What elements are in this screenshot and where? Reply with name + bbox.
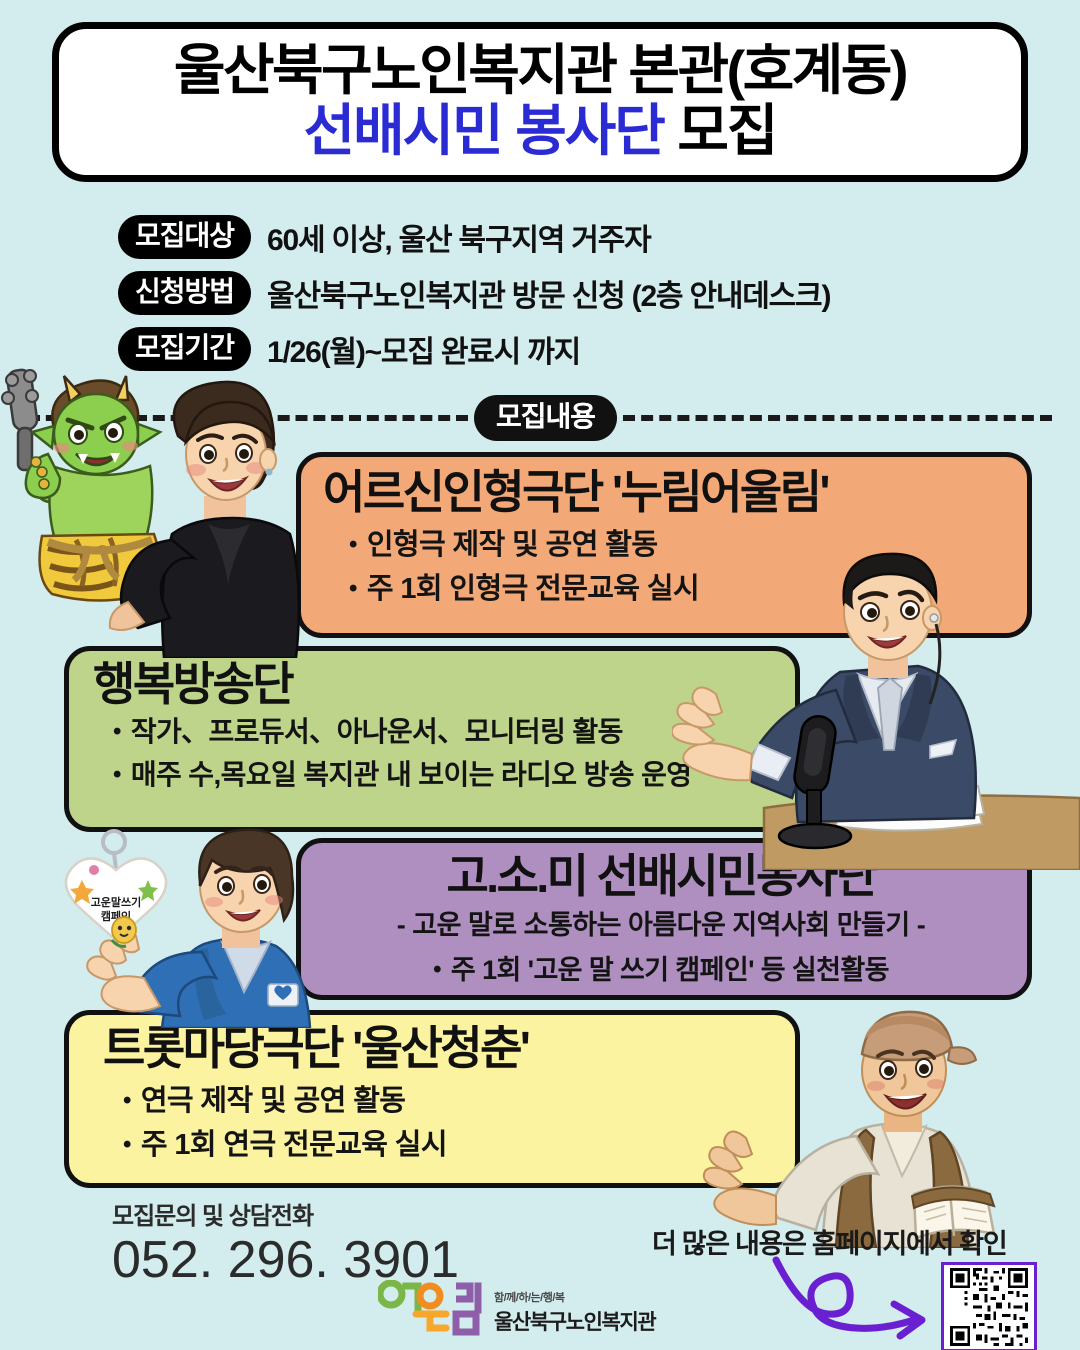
info-rows: 모집대상 60세 이상, 울산 북구지역 거주자 신청방법 울산북구노인복지관 … xyxy=(118,215,1018,383)
program-bullets-trot: 연극 제작 및 공연 활동 주 1회 연극 전문교육 실시 xyxy=(103,1079,769,1167)
qr-code-pattern xyxy=(944,1265,1034,1349)
program-title-gosomi: 고.소.미 선배시민봉사단 xyxy=(321,849,1001,903)
program-card-trot: 트롯마당극단 '울산청춘' 연극 제작 및 공연 활동 주 1회 연극 전문교육… xyxy=(64,1010,800,1188)
eoullim-logo-mark xyxy=(378,1280,486,1338)
contact-block: 모집문의 및 상담전화 052. 296. 3901 xyxy=(112,1196,459,1288)
info-badge-target: 모집대상 xyxy=(118,215,251,259)
program-bullets-puppet: 인형극 제작 및 공연 활동 주 1회 인형극 전문교육 실시 xyxy=(323,523,1001,611)
program-subtitle-gosomi: - 고운 말로 소통하는 아름다운 지역사회 만들기 - xyxy=(321,905,1001,946)
program-card-gosomi: 고.소.미 선배시민봉사단 - 고운 말로 소통하는 아름다운 지역사회 만들기… xyxy=(296,838,1032,1000)
program-bullet: 주 1회 '고운 말 쓰기 캠페인' 등 실천활동 xyxy=(321,950,1001,991)
page-title-rest: 모집 xyxy=(664,99,777,162)
program-bullet: 작가、프로듀서、아나운서、모니터링 활동 xyxy=(113,711,769,754)
organization-logo: 함/께/하/는/행/복 울산북구노인복지관 xyxy=(378,1280,655,1338)
divider-dash-right xyxy=(623,415,1052,421)
info-text-period: 1/26(월)~모집 완료시 까지 xyxy=(267,327,580,371)
poster-title-box: 울산북구노인복지관 본관(호계동) 선배시민 봉사단 모집 xyxy=(52,22,1028,182)
svg-text:캠페인: 캠페인 xyxy=(101,909,131,923)
program-bullets-radio: 작가、프로듀서、아나운서、모니터링 활동 매주 수,목요일 복지관 내 보이는 … xyxy=(93,711,769,796)
qr-code[interactable] xyxy=(941,1262,1037,1350)
logo-tagline: 함/께/하/는/행/복 xyxy=(494,1289,655,1305)
program-bullet: 연극 제작 및 공연 활동 xyxy=(123,1079,769,1123)
page-title-highlight: 선배시민 봉사단 xyxy=(304,99,664,162)
info-row-period: 모집기간 1/26(월)~모집 완료시 까지 xyxy=(118,327,1018,371)
info-text-target: 60세 이상, 울산 북구지역 거주자 xyxy=(267,215,650,259)
program-title-radio: 행복방송단 xyxy=(93,657,769,711)
poster-root: 울산북구노인복지관 본관(호계동) 선배시민 봉사단 모집 모집대상 60세 이… xyxy=(0,0,1080,1350)
info-badge-period: 모집기간 xyxy=(118,327,251,371)
section-divider: 모집내용 xyxy=(28,395,1052,441)
info-badge-method: 신청방법 xyxy=(118,271,251,315)
info-row-target: 모집대상 60세 이상, 울산 북구지역 거주자 xyxy=(118,215,1018,259)
program-title-puppet: 어르신인형극단 '누림어울림' xyxy=(323,465,1001,519)
contact-label: 모집문의 및 상담전화 xyxy=(112,1196,459,1231)
program-bullets-gosomi: 주 1회 '고운 말 쓰기 캠페인' 등 실천활동 xyxy=(321,950,1001,991)
svg-text:고운말쓰기: 고운말쓰기 xyxy=(91,895,142,909)
page-title-line1: 울산북구노인복지관 본관(호계동) xyxy=(174,42,906,100)
program-bullet: 주 1회 연극 전문교육 실시 xyxy=(123,1123,769,1167)
program-card-radio: 행복방송단 작가、프로듀서、아나운서、모니터링 활동 매주 수,목요일 복지관 … xyxy=(64,646,800,832)
program-bullet: 매주 수,목요일 복지관 내 보이는 라디오 방송 운영 xyxy=(113,754,769,797)
program-title-trot: 트롯마당극단 '울산청춘' xyxy=(103,1021,769,1075)
info-row-method: 신청방법 울산북구노인복지관 방문 신청 (2층 안내데스크) xyxy=(118,271,1018,315)
program-bullet: 주 1회 인형극 전문교육 실시 xyxy=(349,567,1001,611)
divider-dash-left xyxy=(28,415,468,421)
page-title-line2: 선배시민 봉사단 모집 xyxy=(304,100,777,163)
program-bullet: 인형극 제작 및 공연 활동 xyxy=(349,523,1001,567)
divider-badge-contents: 모집내용 xyxy=(474,395,617,441)
curved-arrow-icon xyxy=(770,1252,950,1344)
program-card-puppet: 어르신인형극단 '누림어울림' 인형극 제작 및 공연 활동 주 1회 인형극 … xyxy=(296,452,1032,638)
info-text-method: 울산북구노인복지관 방문 신청 (2층 안내데스크) xyxy=(267,271,830,315)
logo-organization-name: 울산북구노인복지관 xyxy=(494,1306,655,1336)
